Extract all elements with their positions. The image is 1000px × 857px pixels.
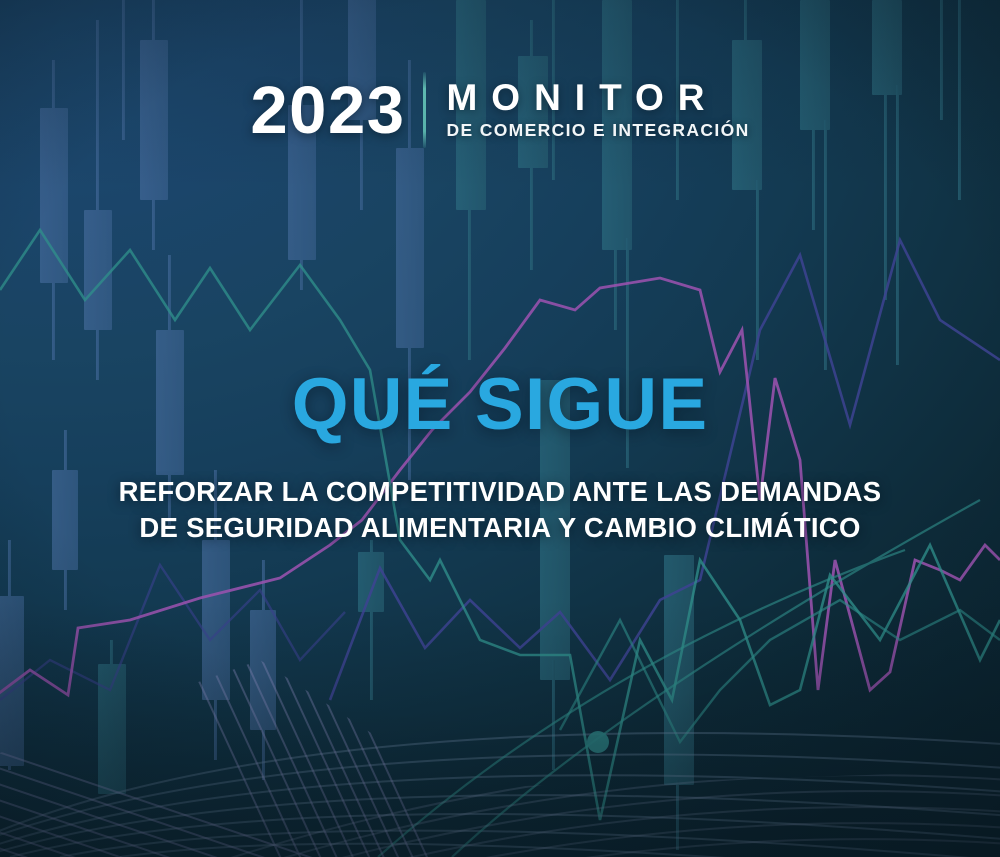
brand-name: MONITOR: [446, 79, 749, 118]
page-subtitle: REFORZAR LA COMPETITIVIDAD ANTE LAS DEMA…: [0, 474, 1000, 547]
report-cover: 2023 MONITOR DE COMERCIO E INTEGRACIÓN Q…: [0, 0, 1000, 857]
brand-tagline: DE COMERCIO E INTEGRACIÓN: [446, 121, 749, 140]
page-title: QUÉ SIGUE: [0, 368, 1000, 441]
brand-block: MONITOR DE COMERCIO E INTEGRACIÓN: [426, 79, 749, 140]
year-label: 2023: [250, 77, 423, 144]
header-lockup: 2023 MONITOR DE COMERCIO E INTEGRACIÓN: [0, 72, 1000, 148]
subtitle-line-1: REFORZAR LA COMPETITIVIDAD ANTE LAS DEMA…: [0, 474, 1000, 510]
subtitle-line-2: DE SEGURIDAD ALIMENTARIA Y CAMBIO CLIMÁT…: [0, 510, 1000, 546]
